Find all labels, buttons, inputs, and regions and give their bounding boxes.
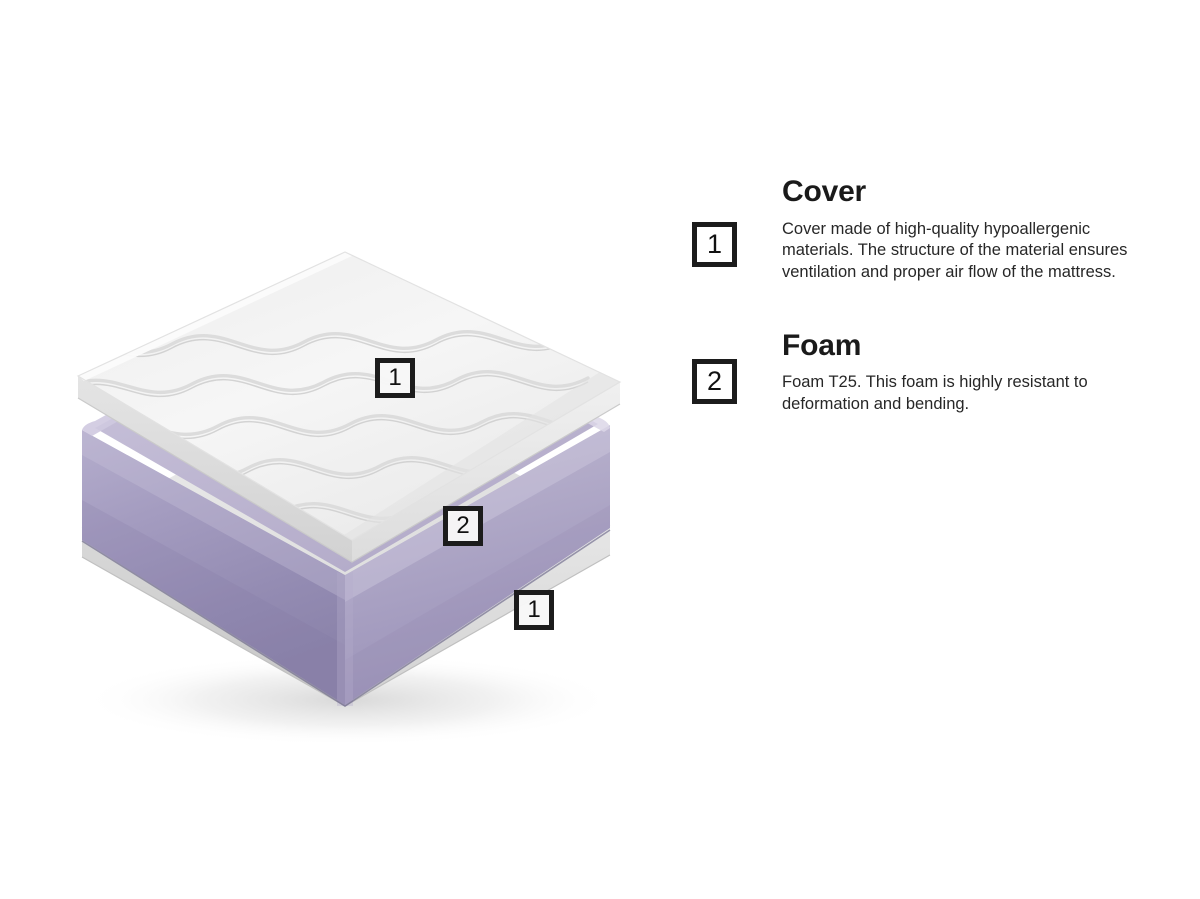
legend-body-foam: Foam T25. This foam is highly resistant … <box>782 372 1147 416</box>
legend-marker-1[interactable]: 1 <box>692 222 737 267</box>
legend-text-foam: Foam Foam T25. This foam is highly resis… <box>782 330 1162 416</box>
mattress-exploded-view-svg <box>0 0 680 899</box>
mattress-illustration: 1 2 1 <box>0 0 680 899</box>
legend-title-cover: Cover <box>782 176 1162 208</box>
legend-marker-2[interactable]: 2 <box>692 359 737 404</box>
legend-text-cover: Cover Cover made of high-quality hypoall… <box>782 176 1162 284</box>
layer-legend: 1 Cover Cover made of high-quality hypoa… <box>692 176 1162 416</box>
legend-title-foam: Foam <box>782 330 1162 362</box>
callout-marker-cover-top[interactable]: 1 <box>375 358 415 398</box>
infographic-page: 1 2 1 1 Cover Cover made of high-quality… <box>0 0 1200 899</box>
callout-marker-foam[interactable]: 2 <box>443 506 483 546</box>
legend-body-cover: Cover made of high-quality hypoallergeni… <box>782 219 1147 284</box>
legend-entry-foam: 2 Foam Foam T25. This foam is highly res… <box>692 330 1162 416</box>
legend-entry-cover: 1 Cover Cover made of high-quality hypoa… <box>692 176 1162 284</box>
callout-marker-cover-base[interactable]: 1 <box>514 590 554 630</box>
